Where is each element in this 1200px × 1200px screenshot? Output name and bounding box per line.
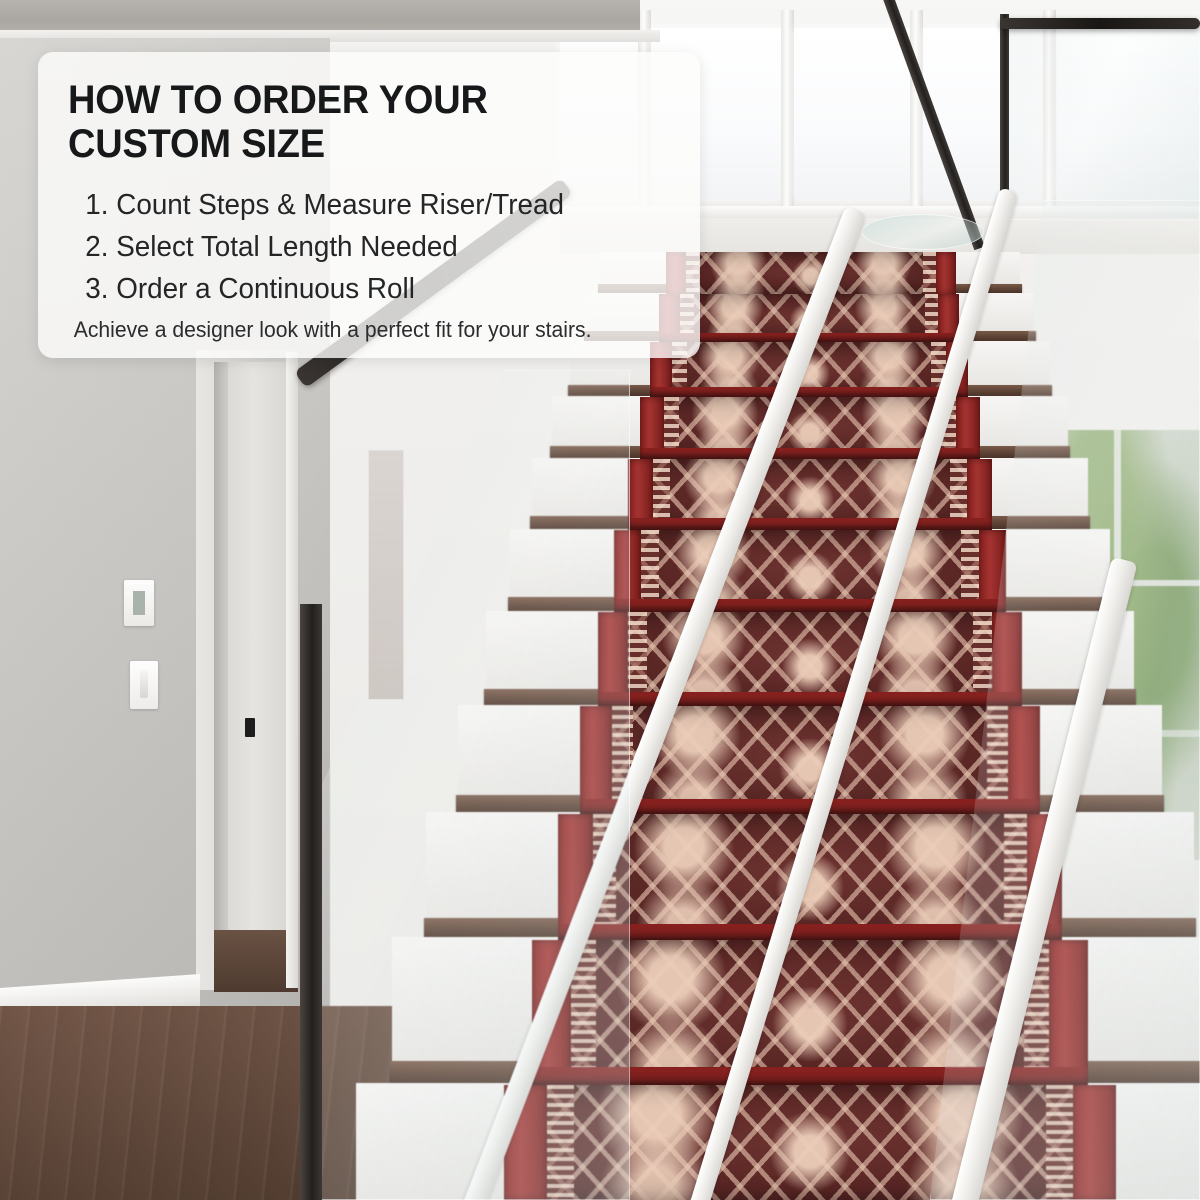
left-railing-newel-post — [300, 604, 322, 1200]
runner-binding-right — [936, 252, 956, 294]
ceiling — [0, 0, 640, 34]
curved-glass-balustrade — [862, 214, 984, 250]
doorway-trim — [286, 352, 298, 988]
runner-nosing — [650, 387, 968, 397]
step-item-1: 1. Count Steps & Measure Riser/Tread — [68, 184, 646, 226]
upper-glass-balustrade — [1006, 20, 1200, 220]
door-pull-handle[interactable] — [245, 718, 255, 737]
runner-bead-trim-right — [923, 252, 936, 294]
upper-handrail — [1000, 18, 1200, 29]
card-title: HOW TO ORDER YOUR CUSTOM SIZE — [68, 78, 640, 166]
step-item-3: 3. Order a Continuous Roll — [68, 268, 646, 310]
stair-runner-segment — [666, 252, 956, 294]
runner-nosing — [614, 599, 1006, 612]
steps-list: 1. Count Steps & Measure Riser/Tread 2. … — [68, 184, 670, 310]
window-mullion-3 — [910, 10, 923, 210]
stair-runner-segment — [628, 459, 992, 530]
card-footnote: Achieve a designer look with a perfect f… — [68, 316, 646, 344]
thermostat[interactable] — [124, 580, 154, 626]
room-photo-scene: HOW TO ORDER YOUR CUSTOM SIZE 1. Count S… — [0, 0, 1200, 1200]
framed-art-reflection — [368, 450, 404, 700]
how-to-order-card: HOW TO ORDER YOUR CUSTOM SIZE 1. Count S… — [38, 52, 700, 358]
doorway-shadow — [214, 362, 228, 962]
step-item-2: 2. Select Total Length Needed — [68, 226, 646, 268]
runner-nosing — [628, 518, 992, 530]
stair-runner-segment — [614, 530, 1006, 612]
window-mullion-2 — [781, 10, 794, 210]
window-pane-3 — [794, 28, 910, 200]
light-switch[interactable] — [130, 661, 158, 709]
